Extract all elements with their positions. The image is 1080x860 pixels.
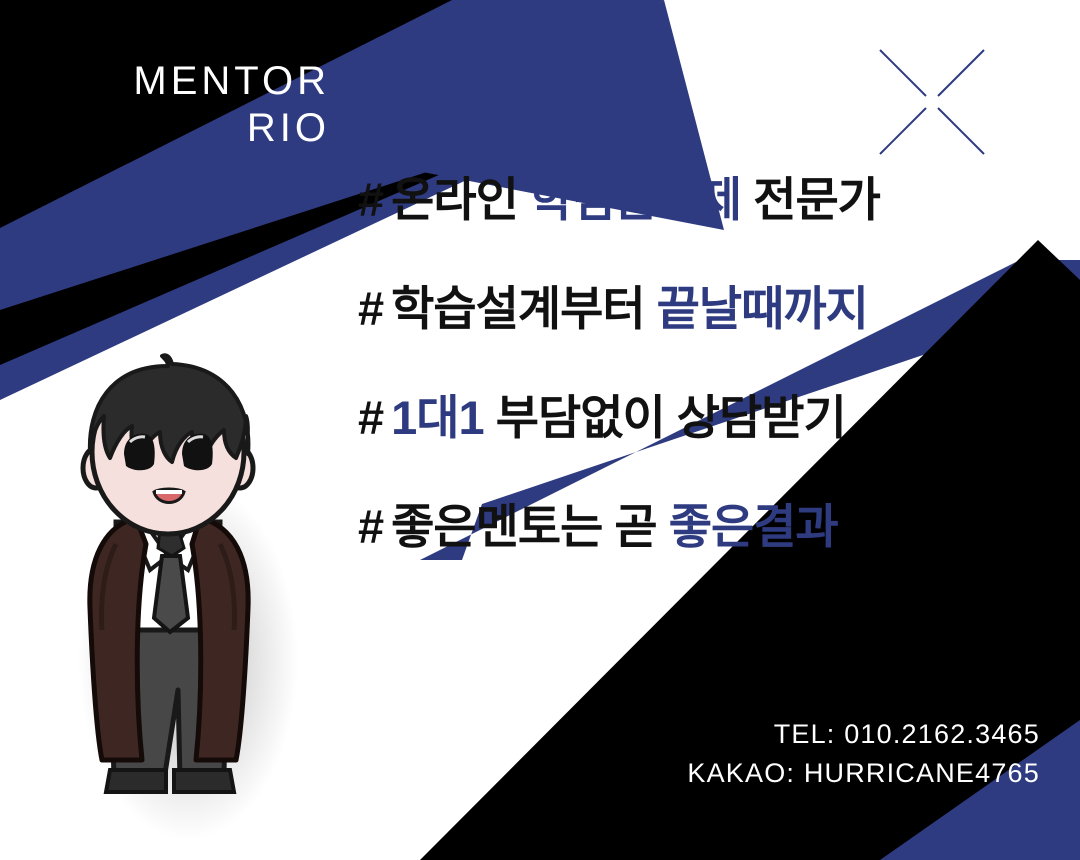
character-shoe-left (106, 770, 166, 792)
contact-block: TEL: 010.2162.3465 KAKAO: HURRICANE4765 (687, 715, 1040, 792)
hash-icon-4: # (358, 500, 383, 553)
headline-3-seg-1: 1대1 (391, 391, 484, 444)
headline-line-1: #온라인 학점은행제 전문가 (358, 176, 1048, 223)
headline-4-seg-1: 좋은멘토는 곧 (391, 500, 657, 553)
character-coat-right (192, 518, 248, 760)
headline-1-seg-2: 학점은행제 (530, 173, 741, 226)
character-coat-left (90, 518, 146, 760)
headline-1-seg-3: 전문가 (753, 173, 880, 226)
headline-2-seg-2: 끝날때까지 (657, 282, 868, 335)
brand-logo: MENTOR RIO (60, 58, 330, 152)
headline-3-seg-2: 부담없이 상담받기 (496, 391, 846, 444)
headline-list: #온라인 학점은행제 전문가 #학습설계부터 끝날때까지 #1대1 부담없이 상… (358, 176, 1048, 550)
headline-line-3: #1대1 부담없이 상담받기 (358, 394, 1048, 441)
mentor-character-illustration (38, 330, 298, 850)
x-cross-icon (878, 48, 986, 156)
hash-icon-3: # (358, 391, 383, 444)
brand-line-2: RIO (60, 105, 330, 152)
character-tie (154, 556, 188, 632)
contact-kakao[interactable]: KAKAO: HURRICANE4765 (687, 754, 1040, 792)
headline-line-2: #학습설계부터 끝날때까지 (358, 285, 1048, 332)
character-shoe-right (174, 770, 234, 792)
promo-banner: MENTOR RIO #온라인 학점은행제 전문가 #학습설계부터 끝날때까지 … (0, 0, 1080, 860)
hash-icon-1: # (358, 173, 383, 226)
headline-line-4: #좋은멘토는 곧 좋은결과 (358, 503, 1048, 550)
headline-2-seg-1: 학습설계부터 (391, 282, 644, 335)
contact-tel[interactable]: TEL: 010.2162.3465 (687, 715, 1040, 753)
headline-4-seg-2: 좋은결과 (669, 500, 838, 553)
brand-line-1: MENTOR (60, 58, 330, 105)
hash-icon-2: # (358, 282, 383, 335)
headline-1-seg-1: 온라인 (391, 173, 518, 226)
character-hair (90, 355, 249, 462)
